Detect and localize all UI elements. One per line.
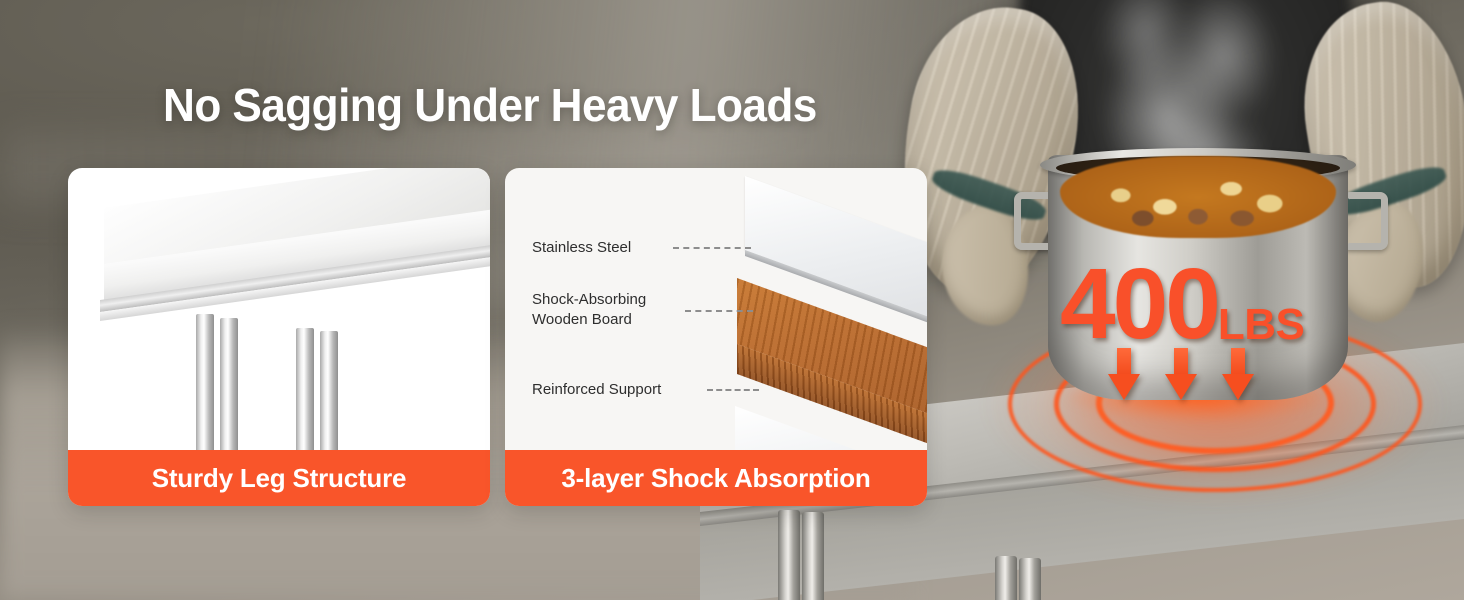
arrow-stem bbox=[1117, 348, 1131, 376]
leader-line-wooden-board bbox=[685, 310, 753, 312]
table-leg-illustration bbox=[196, 314, 214, 450]
page-title: No Sagging Under Heavy Loads bbox=[163, 78, 817, 132]
load-capacity-unit: LBS bbox=[1218, 300, 1305, 350]
arrow-stem bbox=[1174, 348, 1188, 376]
table-leg bbox=[802, 512, 824, 600]
table-leg-illustration bbox=[220, 318, 238, 450]
card-caption-sturdy-leg-structure: Sturdy Leg Structure bbox=[68, 450, 490, 506]
table-leg bbox=[778, 510, 800, 600]
load-capacity-value: 400 bbox=[1060, 258, 1218, 350]
arrow-head bbox=[1108, 374, 1140, 400]
leader-line-reinforced-support bbox=[707, 389, 759, 391]
table-leg bbox=[995, 556, 1017, 600]
card-caption-three-layer-shock-absorption: 3-layer Shock Absorption bbox=[505, 450, 927, 506]
arrow-down-icon bbox=[1222, 348, 1254, 400]
table-leg bbox=[1019, 558, 1041, 600]
arrow-down-icon bbox=[1108, 348, 1140, 400]
table-leg-illustration bbox=[320, 331, 338, 450]
leader-line-stainless-steel bbox=[673, 247, 751, 249]
layer-wooden-board bbox=[737, 278, 927, 388]
load-capacity-badge: 400 LBS bbox=[1060, 258, 1304, 350]
layer-reinforced-support-plate bbox=[735, 406, 927, 450]
pot-handle-right bbox=[1342, 192, 1388, 250]
arrow-stem bbox=[1231, 348, 1245, 376]
support-plate-face bbox=[735, 406, 927, 450]
table-corner-illustration bbox=[68, 168, 490, 450]
product-feature-banner: No Sagging Under Heavy Loads Sturdy Leg … bbox=[0, 0, 1464, 600]
layer-label-reinforced-support: Reinforced Support bbox=[532, 380, 661, 400]
layer-label-wooden-board: Shock-Absorbing Wooden Board bbox=[532, 290, 646, 329]
arrow-head bbox=[1222, 374, 1254, 400]
feature-card-sturdy-leg-structure[interactable]: Sturdy Leg Structure bbox=[68, 168, 490, 506]
table-leg-illustration bbox=[296, 328, 314, 450]
feature-card-three-layer-shock-absorption[interactable]: Stainless Steel Shock-Absorbing Wooden B… bbox=[505, 168, 927, 506]
layer-label-stainless-steel: Stainless Steel bbox=[532, 238, 631, 258]
arrow-head bbox=[1165, 374, 1197, 400]
arrow-down-icon bbox=[1165, 348, 1197, 400]
beef-stew-contents bbox=[1060, 156, 1336, 238]
layer-diagram: Stainless Steel Shock-Absorbing Wooden B… bbox=[505, 168, 927, 450]
layer-stainless-steel-sheet bbox=[745, 176, 927, 262]
downward-force-arrows bbox=[1108, 348, 1254, 400]
